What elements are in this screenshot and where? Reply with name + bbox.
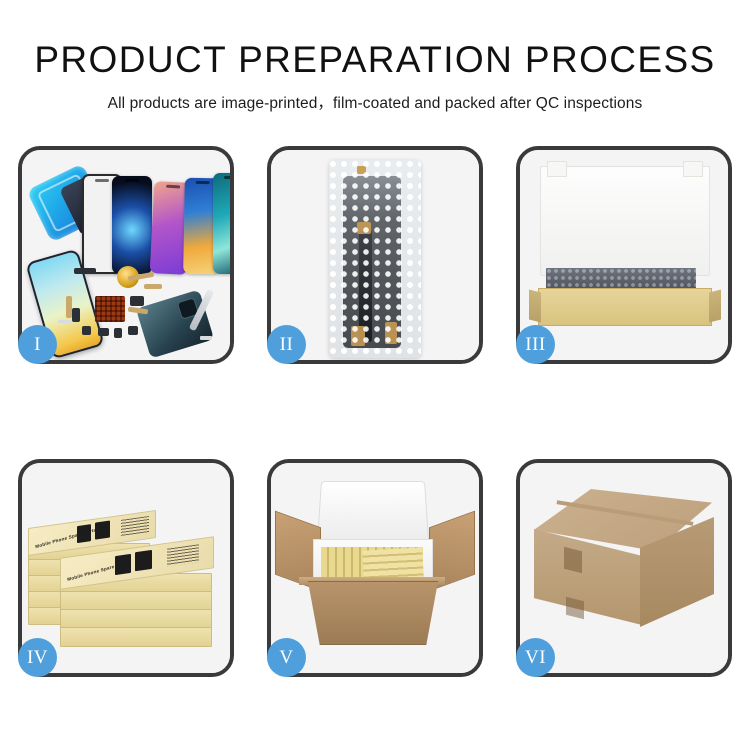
process-step-4: Mobile Phone Spare Parts Mobile Phone Sp…: [18, 459, 234, 677]
wire-icon: [58, 320, 72, 323]
bubble-texture-overlay: [329, 160, 421, 358]
step-badge: IV: [18, 638, 57, 677]
page-title: PRODUCT PREPARATION PROCESS: [0, 41, 750, 78]
stacked-box: [60, 609, 212, 629]
step-4-image: Mobile Phone Spare Parts Mobile Phone Sp…: [22, 463, 230, 673]
step-6-image: [520, 463, 728, 673]
step-5-image: [271, 463, 479, 673]
packed-boxes-icon: [362, 547, 423, 580]
step-2-image: [271, 150, 479, 360]
chip-icon: [128, 326, 138, 335]
copper-mesh-icon: [95, 296, 125, 322]
stacked-box: [60, 591, 212, 611]
flex-cable-icon: [66, 296, 72, 318]
box-text-lines: [167, 544, 199, 566]
process-step-5: V: [267, 459, 483, 677]
kraft-box-body-icon: [538, 288, 712, 326]
box-artwork: [77, 524, 91, 543]
process-step-3: III: [516, 146, 732, 364]
phone-screen-blue-icon: [112, 176, 152, 274]
flex-cable-icon: [144, 284, 162, 289]
product-preparation-infographic: PRODUCT PREPARATION PROCESS All products…: [0, 0, 750, 750]
chip-icon: [98, 328, 109, 336]
header: PRODUCT PREPARATION PROCESS All products…: [0, 0, 750, 113]
step-1-image: [22, 150, 230, 360]
chip-icon: [114, 328, 122, 338]
bubble-wrap-bag-icon: [329, 160, 421, 358]
screen-fan-group: [74, 164, 230, 274]
step-badge: V: [267, 638, 306, 677]
chip-icon: [130, 296, 144, 306]
process-step-1: I: [18, 146, 234, 364]
box-lid-icon: [540, 166, 710, 276]
process-step-grid: I II I: [18, 146, 732, 677]
page-subtitle: All products are image-printed，film-coat…: [0, 91, 750, 113]
step-badge: III: [516, 325, 555, 364]
box-stack-group: Mobile Phone Spare Parts Mobile Phone Sp…: [26, 481, 226, 661]
carton-body-icon: [299, 581, 447, 645]
step-badge: I: [18, 325, 57, 364]
step-3-image: [520, 150, 728, 360]
phone-screen-teal-icon: [213, 173, 230, 274]
chip-icon: [74, 268, 96, 274]
chip-icon: [72, 308, 80, 322]
box-artwork: [135, 550, 152, 571]
process-step-2: II: [267, 146, 483, 364]
foam-lid-icon: [317, 481, 429, 543]
step-badge: II: [267, 325, 306, 364]
carton-tape-icon: [564, 547, 582, 573]
stacked-box: [60, 627, 212, 647]
box-text-lines: [121, 516, 149, 536]
box-artwork: [95, 520, 110, 539]
chip-icon: [82, 326, 91, 335]
wire-icon: [200, 336, 212, 340]
step-badge: VI: [516, 638, 555, 677]
process-step-6: VI: [516, 459, 732, 677]
carton-tape-icon: [566, 597, 584, 619]
box-artwork: [115, 554, 131, 575]
